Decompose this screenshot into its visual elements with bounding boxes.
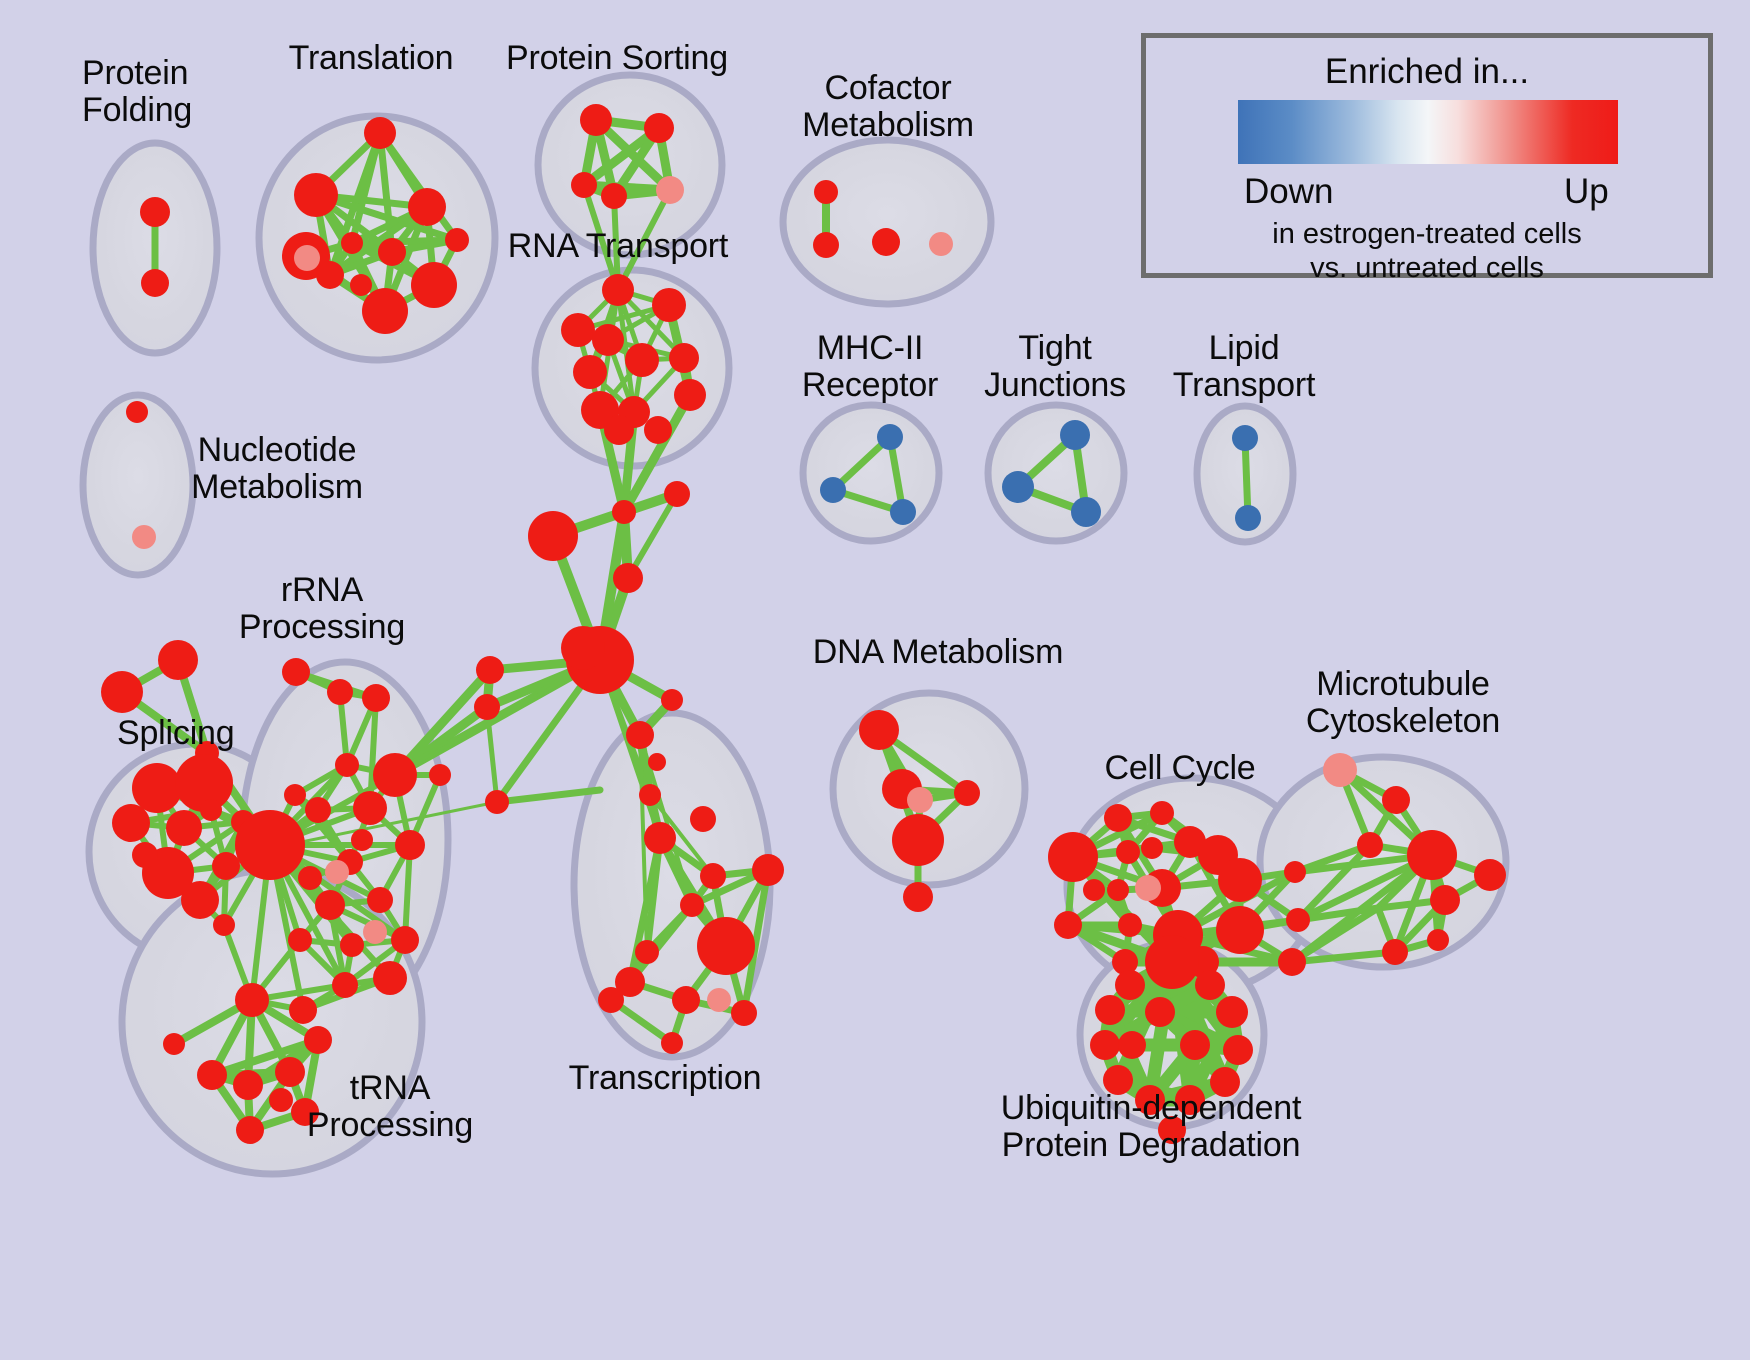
hull-tight-junctions (988, 405, 1124, 541)
cluster-label-nucleotide: Nucleotide Metabolism (191, 432, 363, 505)
cluster-label-cell-cycle: Cell Cycle (1104, 750, 1255, 787)
hull-mhc (803, 405, 939, 541)
legend-caption-line-2: vs. untreated cells (1146, 252, 1708, 285)
cluster-label-trna: tRNA Processing (307, 1070, 473, 1143)
cluster-label-dna-metabolism: DNA Metabolism (813, 634, 1063, 671)
legend-high-label: Up (1564, 172, 1609, 212)
cluster-label-transcription: Transcription (569, 1060, 762, 1097)
cluster-label-mhc-ii: MHC-II Receptor (802, 330, 938, 403)
legend-color-gradient-bar (1238, 100, 1618, 164)
legend-low-label: Down (1244, 172, 1333, 212)
cluster-label-ubiquitin: Ubiquitin-dependent Protein Degradation (1001, 1090, 1302, 1163)
cluster-label-microtubule: Microtubule Cytoskeleton (1306, 666, 1500, 739)
cluster-label-cofactor: Cofactor Metabolism (802, 70, 974, 143)
cluster-label-rrna: rRNA Processing (239, 572, 405, 645)
cluster-label-tight-junctions: Tight Junctions (984, 330, 1126, 403)
cluster-label-protein-folding: Protein Folding (82, 55, 192, 128)
hull-cofactor (783, 140, 991, 304)
legend-panel: Enriched in... Down Up in estrogen-treat… (1141, 33, 1713, 278)
cluster-label-protein-sorting: Protein Sorting (506, 40, 728, 77)
cluster-label-rna-transport: RNA Transport (508, 228, 728, 265)
legend-title: Enriched in... (1146, 52, 1708, 92)
enrichment-network-figure: Protein FoldingTranslationProtein Sortin… (0, 0, 1750, 1360)
legend-caption-line-1: in estrogen-treated cells (1146, 218, 1708, 251)
cluster-label-splicing: Splicing (117, 715, 234, 752)
cluster-label-lipid-transport: Lipid Transport (1173, 330, 1315, 403)
cluster-label-translation: Translation (289, 40, 454, 77)
